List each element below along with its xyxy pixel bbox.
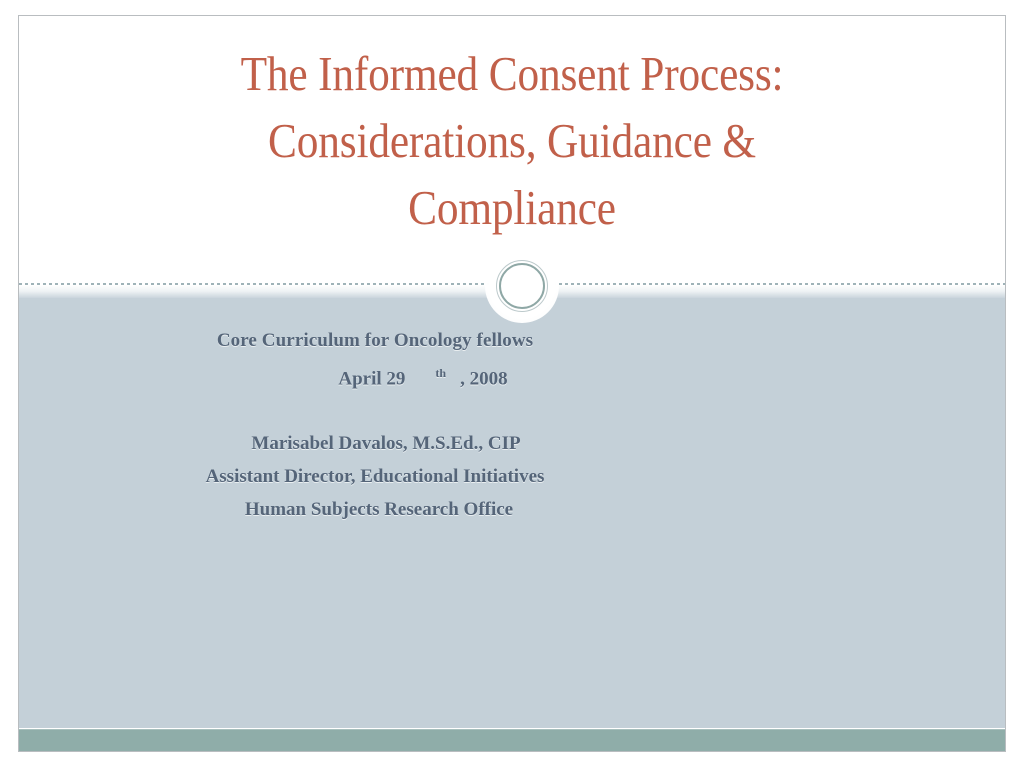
presenter-organization: Human Subjects Research Office	[115, 493, 635, 526]
presenter-name: Marisabel Davalos, M.S.Ed., CIP	[115, 427, 635, 460]
presentation-slide: The Informed Consent Process: Considerat…	[18, 15, 1006, 752]
presenter-title: Assistant Director, Educational Initiati…	[115, 460, 635, 493]
date-ordinal-suffix: th	[405, 366, 460, 380]
page-title: The Informed Consent Process: Considerat…	[76, 40, 949, 241]
date-year: , 2008	[460, 368, 508, 389]
ring-ornament-icon	[485, 249, 559, 323]
ring-inner-stroke	[499, 263, 545, 309]
subtitle-block: Core Curriculum for Oncology fellows Apr…	[115, 324, 635, 526]
date-month-day: April 29	[338, 368, 405, 389]
event-line: Core Curriculum for Oncology fellows	[115, 324, 635, 357]
date-line: April 29th, 2008	[115, 357, 635, 395]
title-band: The Informed Consent Process: Considerat…	[19, 16, 1005, 283]
presenter-spacer	[115, 395, 635, 427]
bottom-accent-bar	[19, 729, 1005, 752]
